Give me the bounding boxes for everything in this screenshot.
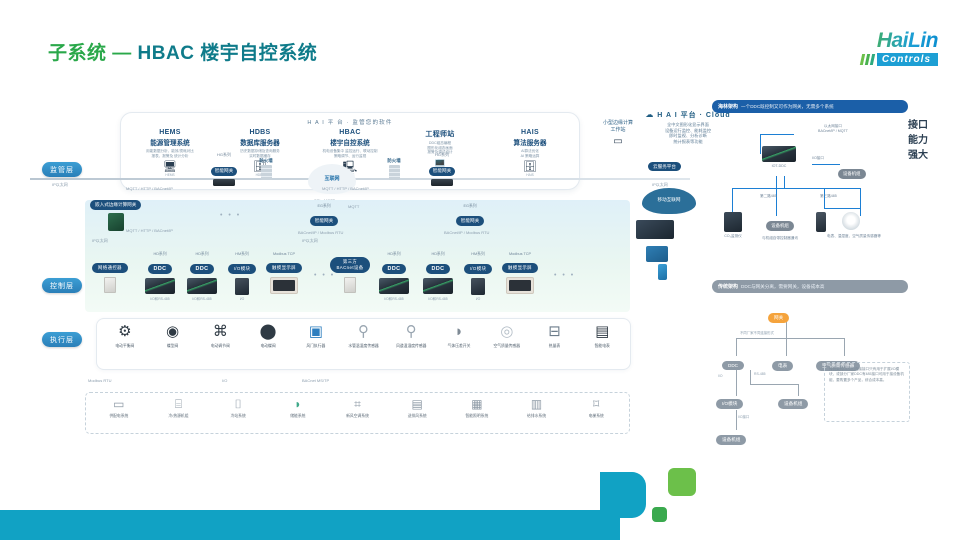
old-arch-gateway[interactable]: 网关 [768, 306, 789, 324]
io-2-port: I/O [460, 297, 496, 301]
gateway-device-right [431, 179, 453, 186]
water-icon: ▥ [507, 396, 567, 412]
hais-icon-label: HAIS [487, 173, 573, 177]
new-arch-io-port-label: I/O接口 [812, 156, 824, 161]
exec-label-1: 蝶型阀 [149, 344, 197, 349]
exec-item-7[interactable]: ◗气体压差开关 [435, 322, 483, 366]
hdbs-en: HDBS [217, 129, 303, 136]
server-icon: 🗄 [487, 161, 573, 173]
new-arch-bus-485-b-label: 第三路485 [820, 194, 837, 199]
hdbs-cn: 数据库服务器 [217, 137, 303, 147]
ddc-node-1[interactable]: HD系列 DDC I/O和RS-485 [140, 252, 180, 301]
new-arch-electric-meter[interactable] [812, 212, 830, 232]
subsystem-7[interactable]: ▥给排水系统 [507, 396, 567, 430]
hais-desc: AI算法优化 AI 策略运算 [487, 149, 573, 158]
exec-item-10[interactable]: ▤智能电表 [578, 322, 626, 366]
logo-bars-icon [861, 54, 874, 65]
internet-label: 互联网 [308, 175, 356, 182]
old-arch-equipment-bottom[interactable]: 设备机组 [716, 428, 746, 446]
hai-platform-brand: H A I 平 台 · 监管您的软件 [121, 118, 579, 126]
architecture-diagram: 监管层 控制层 执行层 H A I 平 台 · 监管您的软件 HEMS 能源管理… [30, 100, 690, 440]
exec-label-0: 电动平衡阀 [101, 344, 149, 349]
old-arch-note-text: 传统架构DDC的连接接口只有用于扩展I/O模块，或部分厂家DDC有485接口可用… [829, 367, 905, 383]
old-arch-io-module[interactable]: I/O模块 [716, 392, 743, 410]
old-arch-ddc-label: DDC [722, 361, 744, 370]
new-arch-bus-485-a: 第二路485 [760, 194, 777, 199]
proto-bacnet-modbus-2: BACnet/IP / Modbus RTU [444, 230, 489, 235]
subsystems-card: ▭供配电系统 ⌸冷/热源机组 ⌷冷站系统 ◗储能系统 ⌗新风空调系统 ▤送排风系… [85, 392, 630, 434]
right-comparison-panel: 接口能力强大 海林架构 一个DDC既控制又可作为网关，无需多个系统 以太网接口 … [700, 100, 936, 450]
third-party-label: 第三方 BACnet设备 [330, 257, 369, 273]
net-gateway-right[interactable]: HG系列 智能网关 [422, 152, 462, 186]
page-title-prefix: 子系统 — [48, 43, 132, 64]
subsystem-2[interactable]: ⌷冷站系统 [208, 396, 268, 430]
new-arch-line-io [812, 164, 840, 165]
bottom-decoration [0, 445, 960, 540]
io-module-2-device-icon [471, 278, 485, 295]
subsystem-0[interactable]: ▭供配电系统 [89, 396, 149, 430]
supervision-bus [30, 178, 690, 180]
exec-item-1[interactable]: ◉蝶型阀 [149, 322, 197, 366]
new-arch-equipment-1[interactable]: 设备机组 [838, 162, 866, 180]
subsystem-label-4: 新风空调系统 [328, 414, 388, 419]
page-title-main: HBAC 楼宇自控系统 [132, 43, 317, 64]
hbac-en: HBAC [307, 129, 393, 136]
traditional-architecture-diagram: 网关 不同厂家不同连接形式 DDC 电表 空气质量传感器 I/O RS-485 … [712, 300, 912, 445]
new-arch-bus-h [732, 188, 860, 189]
gateway-device-left [213, 179, 235, 186]
old-arch-link-io: I/O [718, 374, 723, 378]
smart-gateway-node-2[interactable]: EG系列 智能网关 [448, 204, 492, 227]
new-arch-badge: 海林架构 一个DDC既控制又可作为网关，无需多个系统 [712, 100, 908, 113]
duct-sensor-icon: ⚲ [387, 322, 435, 342]
exec-item-2[interactable]: ⌘电动调节阀 [196, 322, 244, 366]
old-line-485-v [750, 370, 751, 384]
old-arch-gateway-label: 网关 [768, 313, 789, 323]
hais-en: HAIS [487, 129, 573, 136]
io-1-label: I/O模块 [228, 264, 257, 274]
title-bar: 子系统 — HBAC 楼宇自控系统 [48, 38, 317, 65]
new-arch-line-eth [760, 134, 794, 135]
storage-icon: ◗ [268, 396, 328, 412]
subsystem-label-1: 冷/热源机组 [149, 414, 209, 419]
io-2-series: HM系列 [460, 252, 496, 257]
ddc-4-port: I/O和RS-485 [418, 296, 458, 301]
bus2-io: I/O [222, 378, 227, 383]
old-line-equip [736, 410, 737, 430]
ddc-4-series: HD系列 [418, 252, 458, 257]
io-module-node-2[interactable]: HM系列 I/O模块 I/O [460, 252, 496, 301]
ddc-node-4[interactable]: HD系列 DDC I/O和RS-485 [418, 252, 458, 301]
exec-label-10: 智能电表 [578, 344, 626, 349]
eg-2-series: EG系列 [448, 204, 492, 209]
touch-display-node[interactable]: Modbus TCP 触摸显示屏 [262, 252, 306, 294]
exec-item-5[interactable]: ⚲水管温湿度传感器 [340, 322, 388, 366]
deco-band [0, 510, 620, 540]
proto-mqtt: MQTT [348, 204, 359, 209]
old-arch-ddc[interactable]: DDC [722, 354, 744, 372]
third-party-bacnet-node[interactable]: . 第三方 BACnet设备 [330, 252, 370, 293]
new-arch-bus-h2 [824, 208, 860, 209]
new-arch-io-port: I/O接口 [812, 156, 824, 161]
damper-actuator-icon: ▣ [292, 322, 340, 342]
old-arch-equipment-top[interactable]: 设备机组 [778, 392, 808, 410]
hems-desc: 用能数据分析、能效/损耗对比 报表、报警及 统计分析 [127, 149, 213, 158]
network-controller-device-icon [104, 277, 116, 293]
exec-label-4: 风门执行器 [292, 344, 340, 349]
gateway-series-right: HG系列 [422, 152, 462, 158]
subsystem-3[interactable]: ◗储能系统 [268, 396, 328, 430]
old-arch-badge-text: DDC与网关分离，需要网关，设备成本高 [741, 284, 824, 290]
iot-ddc-device-icon [762, 146, 796, 162]
exec-label-5: 水管温湿度传感器 [340, 344, 388, 349]
ddc-3-label: DDC [382, 264, 407, 274]
ddc-1-label: DDC [148, 264, 173, 274]
old-arch-link-io-port-label: I/O接口 [738, 414, 749, 419]
bus2-bacnet-mstp: BACnet MS/TP [302, 378, 329, 383]
exec-item-3[interactable]: ⬤电动蝶阀 [244, 322, 292, 366]
subsystem-8[interactable]: ⌑电梯系统 [566, 396, 626, 430]
old-arch-link-485: RS-485 [754, 372, 766, 376]
old-arch-link-485-label: RS-485 [754, 372, 766, 376]
new-arch-control-note: 与机组自带控制器通讯 [756, 236, 804, 241]
layer-badge-supervision: 监管层 [42, 162, 82, 177]
edge-gateway-label: 嵌入式边缘计算网关 [90, 200, 141, 210]
proto-bacnet-modbus-1: BACnet/IP / Modbus RTU [298, 230, 343, 235]
chiller-icon: ⌸ [149, 396, 209, 412]
old-arch-equipment-top-label: 设备机组 [778, 399, 808, 409]
hais-cn: 算法服务器 [487, 137, 573, 147]
ddc-3-port: I/O和RS-485 [374, 296, 414, 301]
new-arch-equipment-2[interactable]: 设备机组 与机组自带控制器通讯 [756, 214, 804, 241]
subsystem-items: ▭供配电系统 ⌸冷/热源机组 ⌷冷站系统 ◗储能系统 ⌗新风空调系统 ▤送排风系… [89, 396, 626, 430]
hems-cn: 能源管理系统 [127, 137, 213, 147]
interface-capability-vertical-text: 接口能力强大 [908, 118, 928, 163]
ip-ethernet-label-ctrl-right: IP以太网 [302, 238, 318, 244]
control-valve-icon: ⌘ [196, 322, 244, 342]
new-arch-bus-v3 [784, 176, 785, 188]
logo-subtext: Controls [877, 53, 938, 66]
tablet-icon [646, 246, 668, 262]
ddc-node-2[interactable]: HD系列 DDC I/O和RS-485 [182, 252, 222, 301]
air-quality-sensor-icon: ◎ [483, 322, 531, 342]
new-arch-iot-ddc[interactable]: IOT-DDC [756, 146, 802, 168]
new-architecture-diagram: 以太网接口 BACnet/IP / MQTT IOT-DDC I/O接口 设备机… [712, 120, 902, 245]
exec-label-2: 电动调节阀 [196, 344, 244, 349]
smart-meter-icon: ▤ [578, 322, 626, 342]
ddc-4-device-icon [423, 278, 453, 294]
exec-label-6: 风道温湿度传感器 [387, 344, 435, 349]
power-icon: ▭ [89, 396, 149, 412]
new-arch-equipment-1-label: 设备机组 [838, 169, 866, 179]
ddc-2-series: HD系列 [182, 252, 222, 257]
old-arch-badge: 传统架构 DDC与网关分离，需要网关，设备成本高 [712, 280, 908, 293]
hems-icon-label: HEMS [127, 173, 213, 177]
exec-item-6[interactable]: ⚲风道温湿度传感器 [387, 322, 435, 366]
hems-en: HEMS [127, 129, 213, 136]
page-title: 子系统 — HBAC 楼宇自控系统 [48, 38, 317, 65]
lighting-icon: ▦ [447, 396, 507, 412]
air-quality-sensor-icon [842, 212, 860, 230]
io-module-device-icon [235, 278, 249, 295]
proto-top-left: MQTT / HTTP / BACnet/IP [126, 186, 173, 191]
proto-mid: MQTT / HTTP / BACnet/IP [322, 186, 369, 191]
logo-wordmark: HaiLin [826, 30, 938, 52]
old-arch-badge-bold: 传统架构 [718, 283, 738, 290]
exec-item-4[interactable]: ▣风门执行器 [292, 322, 340, 366]
deco-square-green-small [652, 507, 667, 522]
monitor-icon: 🖥 [127, 161, 213, 173]
old-line-485-h [750, 384, 798, 385]
touch-display-device-icon [270, 277, 298, 294]
elevator-icon: ⌑ [566, 396, 626, 412]
new-arch-sensors-label: 电表、温湿度、空气质量传感器等 [806, 234, 902, 239]
exec-item-0[interactable]: ⚙电动平衡阀 [101, 322, 149, 366]
client-devices [628, 218, 698, 288]
control-dots-3: • • • [220, 212, 241, 219]
cloud-platform-label: 云服务平台 [648, 162, 681, 171]
exec-item-9[interactable]: ⊟热量表 [531, 322, 579, 366]
touch-display-2-device-icon [506, 277, 534, 294]
old-arch-note-box: 传统架构DDC的连接接口只有用于扩展I/O模块，或部分厂家DDC有485接口可用… [824, 362, 910, 422]
new-arch-bus-485-b: 第三路485 [820, 194, 837, 199]
old-arch-gw-note: 不同厂家不同连接形式 [740, 330, 774, 335]
cloud-icon: ☁ [645, 110, 654, 119]
ddc-2-label: DDC [190, 264, 215, 274]
ddc-3-device-icon [379, 278, 409, 294]
laptop-icon [636, 220, 676, 242]
ddc-1-device-icon [145, 278, 175, 294]
io-module-node-1[interactable]: HM系列 I/O模块 I/O [224, 252, 260, 301]
gateway-series-left: HG系列 [204, 152, 244, 158]
eg-2-label: 智能网关 [456, 216, 484, 226]
subsystem-5[interactable]: ▤送排风系统 [387, 396, 447, 430]
ddc-node-3[interactable]: HD系列 DDC I/O和RS-485 [374, 252, 414, 301]
subsystem-label-3: 储能系统 [268, 414, 328, 419]
ahu-icon: ⌗ [328, 396, 388, 412]
firewall-label-right: 防火墙 [382, 158, 406, 164]
layer-badge-control: 控制层 [42, 278, 82, 293]
electric-meter-icon [816, 212, 826, 232]
subsystem-6[interactable]: ▦智能照明系统 [447, 396, 507, 430]
new-arch-bus-485-a-label: 第二路485 [760, 194, 777, 199]
execution-layer-card: ⚙电动平衡阀 ◉蝶型阀 ⌘电动调节阀 ⬤电动蝶阀 ▣风门执行器 ⚲水管温湿度传感… [96, 318, 631, 370]
smart-gateway-node-1[interactable]: EG系列 智能网关 [302, 204, 346, 227]
butterfly-valve-icon: ◉ [149, 322, 197, 342]
exec-label-7: 气体压差开关 [435, 344, 483, 349]
bus-label-left: IP以太网 [52, 182, 68, 188]
subsystem-label-2: 冷站系统 [208, 414, 268, 419]
bus2-modbus-rtu: Modbus RTU [88, 378, 112, 383]
subsystem-4[interactable]: ⌗新风空调系统 [328, 396, 388, 430]
embedded-edge-gateway[interactable]: 嵌入式边缘计算网关 [90, 200, 141, 231]
exec-label-8: 空气质量传感器 [483, 344, 531, 349]
firewall-right: 防火墙 [382, 158, 406, 180]
old-arch-link-io-port: I/O接口 [738, 414, 749, 419]
old-arch-equipment-bottom-label: 设备机组 [716, 435, 746, 445]
old-arch-link-io-label: I/O [718, 374, 723, 378]
old-line-gw-h [736, 338, 844, 339]
gateway-name-right: 智能网关 [429, 167, 455, 176]
new-arch-badge-text: 一个DDC既控制又可作为网关，无需多个系统 [741, 104, 834, 110]
old-arch-meter-label: 电表 [772, 361, 793, 371]
touch-display-2-label: 触摸显示屏 [502, 263, 538, 273]
gateway-name-left: 智能网关 [211, 167, 237, 176]
phone-icon [658, 264, 667, 280]
touch-proto: Modbus TCP [262, 252, 306, 256]
firewall-icon [261, 165, 272, 180]
engineer-station-en: 工程师站 [397, 129, 483, 139]
ddc-1-port: I/O和RS-485 [140, 296, 180, 301]
hbac-desc: 机电设备集中 监控运行、联动控制 策略调节、运行监视 [307, 149, 393, 158]
edge-gateway-chip-icon [108, 213, 124, 231]
subsystem-1[interactable]: ⌸冷/热源机组 [149, 396, 209, 430]
ddc-2-device-icon [187, 278, 217, 294]
execution-items: ⚙电动平衡阀 ◉蝶型阀 ⌘电动调节阀 ⬤电动蝶阀 ▣风门执行器 ⚲水管温湿度传感… [101, 322, 626, 366]
fan-icon: ▤ [387, 396, 447, 412]
third-party-device-icon [344, 277, 356, 293]
touch-display-label: 触摸显示屏 [266, 263, 302, 273]
pipe-sensor-icon: ⚲ [340, 322, 388, 342]
logo-sub-row: Controls [826, 53, 938, 66]
new-arch-sensors-note: 电表、温湿度、空气质量传感器等 [806, 234, 902, 239]
subsystem-label-8: 电梯系统 [566, 414, 626, 419]
exec-label-3: 电动蝶阀 [244, 344, 292, 349]
hailin-logo: HaiLin Controls [826, 30, 938, 74]
io-1-series: HM系列 [224, 252, 260, 257]
ddc-1-series: HD系列 [140, 252, 180, 257]
new-arch-eth-port-label: 以太网接口 BACnet/IP / MQTT [798, 124, 868, 133]
co2-meter-icon [724, 212, 742, 232]
supervision-item-hems[interactable]: HEMS 能源管理系统 用能数据分析、能效/损耗对比 报表、报警及 统计分析 🖥… [125, 129, 215, 177]
new-arch-eth-port: 以太网接口 BACnet/IP / MQTT [798, 124, 868, 133]
subsystem-label-7: 给排水系统 [507, 414, 567, 419]
electric-butterfly-valve-icon: ⬤ [244, 322, 292, 342]
cloud-platform-node[interactable]: 云服务平台 [648, 162, 681, 171]
pressure-switch-icon: ◗ [435, 322, 483, 342]
hbac-cn: 楼宇自控系统 [307, 137, 393, 147]
network-controller-node[interactable]: . 网络通控器 [88, 252, 132, 293]
ddc-3-series: HD系列 [374, 252, 414, 257]
ddc-4-label: DDC [426, 264, 451, 274]
mobile-internet-cloud: 移动互联网 [642, 188, 696, 214]
new-arch-badge-bold: 海林架构 [718, 103, 738, 110]
subsystem-label-6: 智能照明系统 [447, 414, 507, 419]
io-1-port: I/O [224, 297, 260, 301]
net-gateway-left[interactable]: HG系列 智能网关 [204, 152, 244, 186]
old-arch-gw-note-label: 不同厂家不同连接形式 [740, 330, 774, 335]
io-2-label: I/O模块 [464, 264, 493, 274]
touch-display-node-2[interactable]: Modbus TCP 触摸显示屏 [498, 252, 542, 294]
eg-1-label: 智能网关 [310, 216, 338, 226]
firewall-icon [389, 165, 400, 180]
old-arch-meter[interactable]: 电表 [772, 354, 793, 372]
new-arch-co2-label: CO₂监测仪 [716, 234, 750, 239]
deco-square-teal [600, 472, 646, 518]
iot-ddc-label: IOT-DDC [756, 164, 802, 168]
ip-ethernet-label-ctrl-left: IP以太网 [92, 238, 108, 244]
exec-label-9: 热量表 [531, 344, 579, 349]
new-arch-co2-meter[interactable]: CO₂监测仪 [716, 212, 750, 239]
new-arch-air-sensor[interactable] [838, 212, 864, 230]
heat-meter-icon: ⊟ [531, 322, 579, 342]
deco-square-green-large [668, 468, 696, 496]
supervision-item-hais[interactable]: HAIS 算法服务器 AI算法优化 AI 策略运算 🗄 HAIS [485, 129, 575, 177]
old-arch-io-module-label: I/O模块 [716, 399, 743, 409]
layer-badge-execution: 执行层 [42, 332, 82, 347]
valve-icon: ⚙ [101, 322, 149, 342]
mobile-internet-label: 移动互联网 [642, 197, 696, 203]
firewall-label-left: 防火墙 [254, 158, 278, 164]
control-dots-2: • • • [554, 272, 575, 279]
exec-item-8[interactable]: ◎空气质量传感器 [483, 322, 531, 366]
touch-proto-2: Modbus TCP [498, 252, 542, 256]
firewall-left: 防火墙 [254, 158, 278, 180]
cold-station-icon: ⌷ [208, 396, 268, 412]
subsystem-label-5: 送排风系统 [387, 414, 447, 419]
new-arch-equipment-2-label: 设备机组 [766, 221, 794, 231]
subsystem-label-0: 供配电系统 [89, 414, 149, 419]
eg-1-series: EG系列 [302, 204, 346, 209]
network-controller-label: 网络通控器 [92, 263, 128, 273]
ddc-2-port: I/O和RS-485 [182, 296, 222, 301]
